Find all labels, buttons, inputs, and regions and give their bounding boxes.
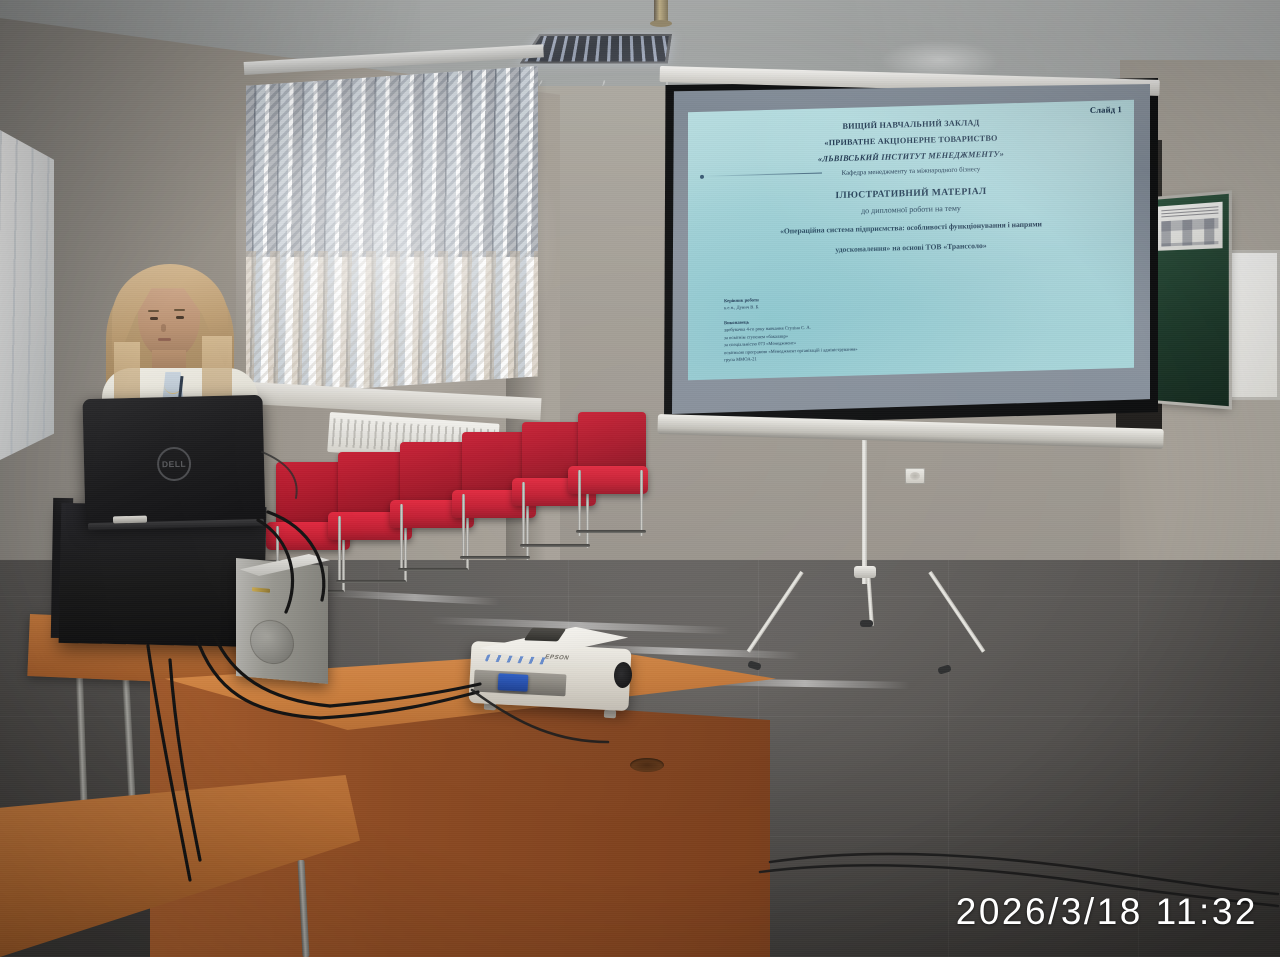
author-block: Виконавець здобувачка 4-го року навчання… xyxy=(724,312,984,364)
screen-tripod-hub xyxy=(854,566,876,578)
slide-number-label: Слайд 1 xyxy=(1090,104,1122,115)
presenter-eye-right xyxy=(176,316,184,319)
green-notice-board xyxy=(1152,194,1229,406)
laptop-latch xyxy=(113,516,147,524)
slide-thesis-title-line2: удосконалення» на основі ТОВ «Транссоло» xyxy=(698,235,1124,260)
screen-tripod-foot-rear xyxy=(860,620,873,627)
chair-frame-left xyxy=(400,504,403,570)
chair-skid xyxy=(460,556,530,559)
projector-foot-right xyxy=(604,710,616,719)
blinds-chevron-pattern xyxy=(246,66,538,257)
chair-skid xyxy=(336,580,406,583)
supervisor-block: Керівник роботи к.е.н., Дунич В. Б. xyxy=(724,290,984,312)
window xyxy=(246,66,538,396)
camera-timestamp: 2026/3/18 11:32 xyxy=(956,891,1258,933)
projection-screen-surface: Слайд 1 ВИЩИЙ НАВЧАЛЬНИЙ ЗАКЛАД «ПРИВАТН… xyxy=(672,84,1150,414)
dell-logo-icon: DELL xyxy=(157,446,192,481)
chair-backrest xyxy=(578,412,646,470)
presenter-eye-left xyxy=(150,317,158,320)
chair-frame-left xyxy=(522,482,525,548)
vga-cable-plug xyxy=(498,673,529,692)
screen-tripod-pole xyxy=(862,432,867,584)
presenter-nose xyxy=(161,324,166,332)
chair-skid xyxy=(398,568,468,571)
chair-frame-left xyxy=(462,494,465,560)
chair-skid xyxy=(576,530,646,533)
slide-credits-block: Керівник роботи к.е.н., Дунич В. Б. Вико… xyxy=(724,290,984,371)
chair-frame-left xyxy=(338,516,341,582)
presenter-brow-left xyxy=(148,310,159,312)
chair-frame-left xyxy=(578,470,581,536)
side-window xyxy=(0,130,54,460)
fire-sprinkler-head xyxy=(654,0,668,26)
podium-cable-grommet xyxy=(630,758,664,772)
blinds-lower-pattern xyxy=(246,251,538,396)
wall-power-outlet xyxy=(905,468,925,484)
presenter-mouth xyxy=(158,338,171,341)
photograph-classroom-presentation: Слайд 1 ВИЩИЙ НАВЧАЛЬНИЙ ЗАКЛАД «ПРИВАТН… xyxy=(0,0,1280,957)
chair-frame-right xyxy=(640,470,643,536)
laptop-lid[interactable]: DELL xyxy=(82,395,265,527)
presenter-brow-right xyxy=(174,309,185,311)
chair-skid xyxy=(520,544,590,547)
presentation-slide: Слайд 1 ВИЩИЙ НАВЧАЛЬНИЙ ЗАКЛАД «ПРИВАТН… xyxy=(688,100,1134,380)
desk-speaker xyxy=(236,558,328,684)
notice-poster xyxy=(1158,202,1223,251)
